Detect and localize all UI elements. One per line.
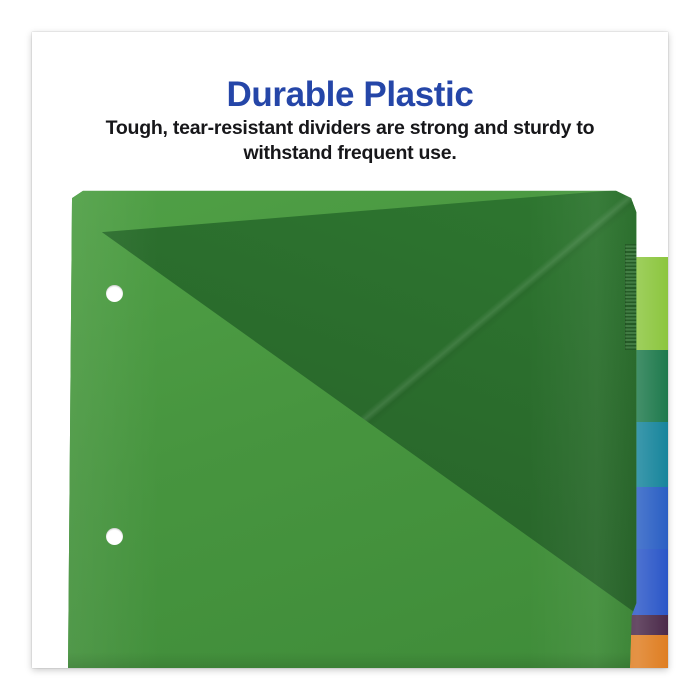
divider-gloss: [68, 188, 642, 668]
page-subtitle: Tough, tear-resistant dividers are stron…: [60, 116, 640, 168]
product-card: Durable Plastic Tough, tear-resistant di…: [32, 32, 668, 668]
pocket-seam-ridge: [625, 244, 637, 350]
divider-bottom-shade: [68, 652, 642, 668]
punch-hole-bottom: [106, 528, 123, 545]
green-divider-sheet: [68, 188, 642, 668]
product-image-canvas: Durable Plastic Tough, tear-resistant di…: [0, 0, 700, 700]
page-title: Durable Plastic: [32, 75, 668, 115]
punch-hole-top: [106, 285, 123, 302]
